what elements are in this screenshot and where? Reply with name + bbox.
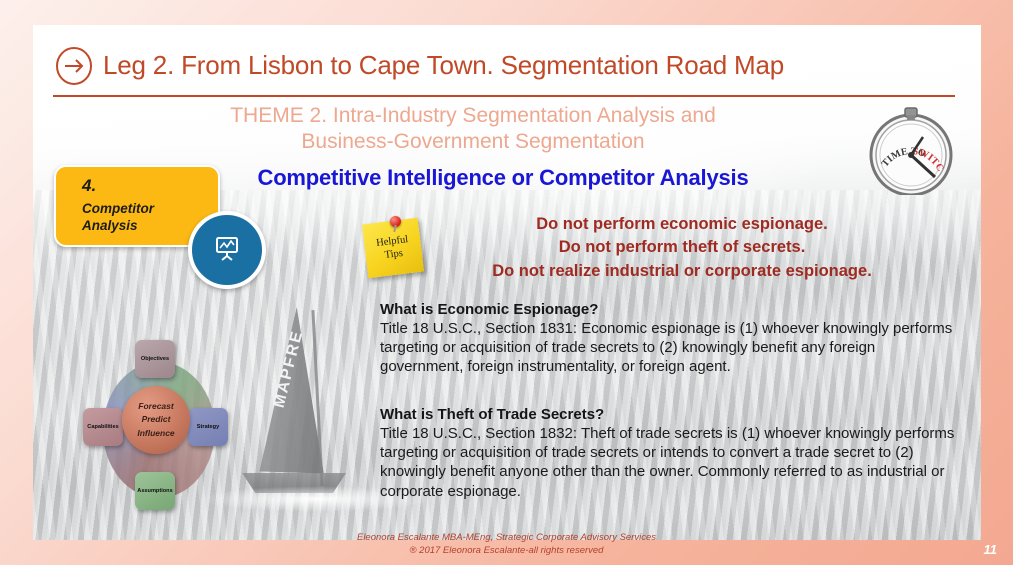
warning-line-2: Do not perform theft of secrets.: [393, 236, 971, 259]
cycle-node-label: Assumptions: [137, 488, 172, 494]
step-number: 4.: [82, 176, 96, 196]
cycle-node-capabilities: Capabilities: [83, 408, 123, 446]
body-text: Title 18 U.S.C., Section 1831: Economic …: [380, 319, 962, 377]
cycle-node-label: Objectives: [141, 356, 169, 362]
content-panel: MAPFRE Leg 2. From Lisbon to Cape Town. …: [33, 25, 981, 540]
footer: Eleonora Escalante MBA-MEng, Strategic C…: [0, 532, 1013, 558]
slide-canvas: MAPFRE Leg 2. From Lisbon to Cape Town. …: [0, 0, 1013, 565]
page-title: Leg 2. From Lisbon to Cape Town. Segment…: [103, 50, 784, 81]
theme-line-2: Business-Government Segmentation: [153, 129, 793, 155]
cycle-node-label: Strategy: [197, 424, 219, 430]
header-divider: [53, 95, 955, 97]
theme-line-1: THEME 2. Intra-Industry Segmentation Ana…: [153, 103, 793, 129]
step-label: Competitor Analysis: [82, 200, 154, 235]
page-number: 11: [984, 542, 998, 557]
pushpin-icon: [390, 216, 401, 227]
warning-block: Do not perform economic espionage. Do no…: [393, 213, 971, 283]
body-heading: What is Economic Espionage?: [380, 301, 962, 318]
cycle-node-assumptions: Assumptions: [135, 472, 175, 510]
theme-subtitle: THEME 2. Intra-Industry Segmentation Ana…: [153, 103, 793, 154]
step-badge[interactable]: [188, 211, 266, 289]
body-text: Title 18 U.S.C., Section 1832: Theft of …: [380, 424, 962, 501]
footer-line-1: Eleonora Escalante MBA-MEng, Strategic C…: [0, 532, 1013, 545]
presentation-chart-icon: [212, 233, 242, 268]
cycle-hub-line-1: Forecast: [138, 400, 173, 413]
step-label-line-1: Competitor: [82, 200, 154, 217]
cycle-node-label: Capabilities: [87, 424, 118, 430]
warning-line-3: Do not realize industrial or corporate e…: [393, 260, 971, 283]
sailboat-graphic: MAPFRE: [236, 308, 356, 498]
section-heading: Competitive Intelligence or Competitor A…: [153, 165, 853, 191]
body-heading: What is Theft of Trade Secrets?: [380, 406, 962, 423]
cycle-hub: Forecast Predict Influence: [122, 386, 190, 454]
footer-line-2: ® 2017 Eleonora Escalante-all rights res…: [0, 545, 1013, 558]
cycle-node-strategy: Strategy: [188, 408, 228, 446]
body-block-economic-espionage: What is Economic Espionage? Title 18 U.S…: [380, 301, 962, 377]
circle-arrow-right-icon: [54, 46, 94, 86]
cycle-hub-line-2: Predict: [142, 413, 171, 426]
cycle-diagram: Objectives Strategy Assumptions Capabili…: [93, 340, 213, 525]
cycle-node-objectives: Objectives: [135, 340, 175, 378]
warning-line-1: Do not perform economic espionage.: [393, 213, 971, 236]
pocket-watch-icon: TIME TO SWITCH: [855, 103, 967, 195]
cycle-hub-line-3: Influence: [137, 427, 174, 440]
step-label-line-2: Analysis: [82, 217, 154, 234]
body-block-trade-secrets: What is Theft of Trade Secrets? Title 18…: [380, 406, 962, 501]
